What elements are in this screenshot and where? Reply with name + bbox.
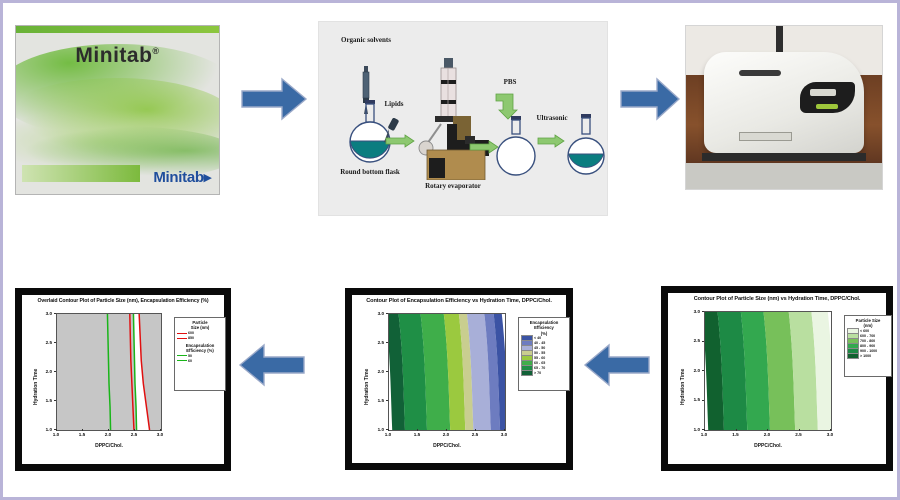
overlaid-x-tick-label: 1.0 [48, 432, 64, 437]
overlaid-x-tick-label: 2.5 [126, 432, 142, 437]
overlaid-x-tickmark [160, 429, 161, 431]
particle-size-y-tick-label: 1.0 [686, 427, 700, 432]
particle-size-y-tick-label: 2.5 [686, 338, 700, 343]
instrument-front-tray [739, 132, 792, 141]
particle-size-y-tickmark [702, 400, 704, 401]
particle-size-legend-label: 900 - 1000 [860, 349, 877, 353]
encapsulation-legend-label: 55 - 60 [534, 356, 545, 360]
overlaid-y-tick-label: 1.5 [38, 398, 52, 403]
particle-size-x-tick-label: 1.5 [728, 432, 744, 437]
encapsulation-x-tick-label: 1.5 [409, 432, 425, 437]
figure-canvas: Minitab® Minitab▸ Organic solvents [0, 0, 900, 500]
particle-size-plot-title: Contour Plot of Particle Size (nm) vs Hy… [668, 296, 886, 302]
label-organic-solvents: Organic solvents [337, 36, 395, 44]
overlaid-legend-line-swatch [177, 338, 187, 339]
overlaid-legend: ParticleSize (nm)600850EncapsulationEffi… [174, 317, 226, 391]
particle-size-y-tickmark [702, 311, 704, 312]
overlaid-y-tick-label: 2.5 [38, 340, 52, 345]
overlaid-x-tick-label: 1.5 [74, 432, 90, 437]
particle-size-contour-plot: Contour Plot of Particle Size (nm) vs Hy… [661, 286, 893, 471]
overlaid-legend-label: 600 [188, 331, 194, 335]
encapsulation-x-tickmark [475, 429, 476, 431]
encapsulation-legend-label: 40 - 45 [534, 341, 545, 345]
particle-size-x-tickmark [704, 429, 705, 431]
instrument-top-slot [739, 70, 781, 76]
encapsulation-plot-title: Contour Plot of Encapsulation Efficiency… [352, 298, 566, 304]
overlaid-legend-label: 50 [188, 354, 192, 358]
minitab-top-accent-bar [16, 26, 219, 33]
particle-size-legend-title: Particle Size(nm) [845, 316, 891, 329]
encapsulation-y-tickmark [386, 400, 388, 401]
particle-size-x-tickmark [736, 429, 737, 431]
overlaid-legend-row: 60 [175, 358, 225, 363]
encapsulation-y-tick-label: 1.0 [370, 427, 384, 432]
particle-size-y-tick-label: 2.0 [686, 368, 700, 373]
encapsulation-y-tickmark [386, 429, 388, 430]
overlaid-y-tick-label: 2.0 [38, 369, 52, 374]
overlaid-y-tickmark [54, 371, 56, 372]
particle-size-y-tickmark [702, 341, 704, 342]
encapsulation-legend-swatch [521, 370, 533, 376]
encapsulation-efficiency-contour-plot: Contour Plot of Encapsulation Efficiency… [345, 288, 573, 470]
encapsulation-legend-title: EncapsulationEfficiency(%) [519, 318, 569, 336]
overlaid-plot-title: Overlaid Contour Plot of Particle Size (… [22, 298, 224, 304]
minitab-wordmark-top: Minitab® [16, 44, 219, 68]
particle-size-legend-label: > 1000 [860, 354, 871, 358]
encapsulation-plot-area [388, 313, 506, 431]
minitab-logo-bottom: Minitab▸ [153, 168, 211, 186]
encapsulation-y-tick-label: 1.5 [370, 398, 384, 403]
overlaid-legend-line-swatch [177, 333, 187, 334]
encapsulation-legend-entries: < 4040 - 4545 - 5050 - 5555 - 6060 - 656… [519, 336, 569, 376]
particle-size-legend: Particle Size(nm) < 600600 - 700700 - 80… [844, 315, 892, 377]
encapsulation-legend-label: < 40 [534, 336, 541, 340]
encapsulation-legend-label: > 70 [534, 371, 541, 375]
encapsulation-x-tick-label: 2.0 [438, 432, 454, 437]
encapsulation-x-tickmark [504, 429, 505, 431]
particle-size-legend-row: > 1000 [845, 354, 891, 359]
particle-size-legend-label: 600 - 700 [860, 334, 875, 338]
instrument-status-indicator [816, 104, 838, 109]
overlaid-legend-label: 850 [188, 336, 194, 340]
liposome-preparation-diagram: Organic solvents Round bottom flask Lipi… [318, 21, 608, 216]
encapsulation-y-tick-label: 2.5 [370, 340, 384, 345]
particle-size-x-tickmark [767, 429, 768, 431]
instrument-base [702, 153, 867, 161]
particle-size-legend-entries: < 600600 - 700700 - 800800 - 900900 - 10… [845, 329, 891, 359]
overlaid-x-tickmark [108, 429, 109, 431]
overlaid-y-tickmark [54, 313, 56, 314]
overlaid-x-tickmark [82, 429, 83, 431]
particle-size-legend-swatch [847, 353, 859, 359]
overlaid-legend-group-title: ParticleSize (nm) [175, 318, 225, 331]
minitab-splash: Minitab® Minitab▸ [15, 25, 220, 195]
encapsulation-x-tickmark [446, 429, 447, 431]
overlaid-y-tick-label: 1.0 [38, 427, 52, 432]
particle-size-x-tickmark [830, 429, 831, 431]
minitab-wordmark-text: Minitab [75, 44, 152, 67]
encapsulation-x-tick-label: 1.0 [380, 432, 396, 437]
overlaid-x-tick-label: 3.0 [152, 432, 168, 437]
label-pbs: PBS [497, 78, 523, 86]
overlaid-y-tickmark [54, 342, 56, 343]
encapsulation-y-tickmark [386, 342, 388, 343]
minitab-green-bar [22, 165, 140, 182]
label-lipids: Lipids [379, 100, 409, 108]
particle-size-x-tickmark [799, 429, 800, 431]
particle-size-plot-area [704, 311, 832, 431]
instrument-sample-chamber [800, 82, 855, 112]
overlaid-y-tickmark [54, 429, 56, 430]
encapsulation-legend-label: 45 - 50 [534, 346, 545, 350]
overlaid-y-tick-label: 3.0 [38, 311, 52, 316]
particle-size-legend-label: 700 - 800 [860, 339, 875, 343]
encapsulation-legend-label: 65 - 70 [534, 366, 545, 370]
particle-size-x-tick-label: 3.0 [822, 432, 838, 437]
arrow-efficiency-to-overlaid [238, 341, 306, 389]
encapsulation-legend-row: > 70 [519, 371, 569, 376]
arrow-particlesize-to-efficiency [583, 341, 651, 389]
overlaid-x-tickmark [134, 429, 135, 431]
particle-size-x-tick-label: 2.0 [759, 432, 775, 437]
minitab-logo-mark-icon: ▸ [204, 169, 211, 186]
overlaid-legend-entries: ParticleSize (nm)600850EncapsulationEffi… [175, 318, 225, 363]
particle-size-x-axis-label: DPPC/Chol. [704, 443, 832, 449]
round-bottom-flask-empty-icon [491, 116, 541, 178]
overlaid-y-tickmark [54, 400, 56, 401]
overlaid-x-axis-label: DPPC/Chol. [56, 443, 162, 449]
overlaid-legend-label: 60 [188, 359, 192, 363]
particle-size-y-tick-label: 3.0 [686, 309, 700, 314]
encapsulation-x-tickmark [417, 429, 418, 431]
overlaid-plot-area [56, 313, 162, 431]
particle-size-y-tickmark [702, 429, 704, 430]
minitab-registered-icon: ® [152, 46, 159, 56]
encapsulation-y-tickmark [386, 313, 388, 314]
arrow-software-to-preparation [240, 75, 308, 123]
particle-size-x-tick-label: 1.0 [696, 432, 712, 437]
minitab-logo-bottom-text: Minitab [153, 169, 203, 186]
particle-size-x-tick-label: 2.5 [791, 432, 807, 437]
particle-size-legend-label: < 600 [860, 329, 869, 333]
overlaid-x-tickmark [56, 429, 57, 431]
process-arrow-3-icon [537, 134, 565, 148]
encapsulation-y-tick-label: 2.0 [370, 369, 384, 374]
particle-size-y-tickmark [702, 370, 704, 371]
overlaid-contour-plot: Overlaid Contour Plot of Particle Size (… [15, 288, 231, 471]
instrument-body [704, 52, 865, 153]
instrument-floor [686, 163, 882, 189]
encapsulation-x-tick-label: 2.5 [467, 432, 483, 437]
arrow-preparation-to-measurement [619, 75, 681, 123]
round-bottom-flask-liposome-icon [563, 114, 609, 180]
overlaid-x-tick-label: 2.0 [100, 432, 116, 437]
encapsulation-x-tickmark [388, 429, 389, 431]
encapsulation-legend-label: 50 - 55 [534, 351, 545, 355]
rotary-evaporator-icon [417, 58, 489, 180]
encapsulation-x-axis-label: DPPC/Chol. [388, 443, 506, 449]
label-rotary-evaporator: Rotary evaporator [411, 182, 495, 190]
instrument-chamber-label [810, 89, 836, 96]
particle-size-analyzer-photo [685, 25, 883, 190]
particle-size-legend-label: 800 - 900 [860, 344, 875, 348]
encapsulation-x-tick-label: 3.0 [496, 432, 512, 437]
process-arrow-1-icon [385, 134, 415, 148]
overlaid-legend-line-swatch [177, 360, 187, 361]
overlaid-legend-group-title: EncapsulationEfficiency (%) [175, 341, 225, 354]
encapsulation-legend-label: 60 - 65 [534, 361, 545, 365]
encapsulation-legend: EncapsulationEfficiency(%) < 4040 - 4545… [518, 317, 570, 391]
label-round-bottom-flask: Round bottom flask [335, 168, 405, 176]
encapsulation-y-tick-label: 3.0 [370, 311, 384, 316]
overlaid-legend-line-swatch [177, 355, 187, 356]
encapsulation-y-tickmark [386, 371, 388, 372]
particle-size-y-tick-label: 1.5 [686, 397, 700, 402]
overlaid-contour-line [107, 314, 110, 430]
